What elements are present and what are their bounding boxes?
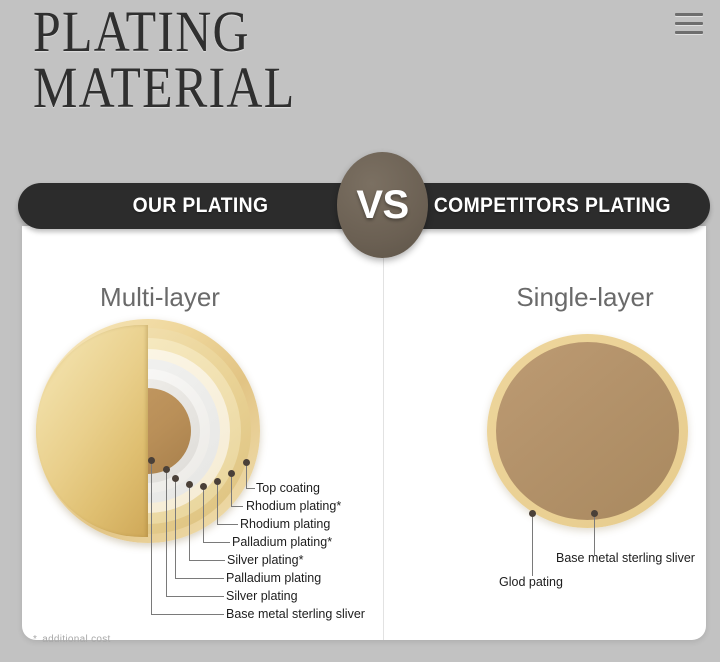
callout-dot-base-metal: [148, 457, 155, 464]
hamburger-menu-icon[interactable]: [675, 13, 703, 37]
callout-leader-palladium-v: [175, 482, 176, 578]
callout-leader-rhodium-v: [217, 485, 218, 524]
hamburger-bar-2: [675, 22, 703, 25]
vs-label: VS: [356, 183, 408, 228]
banner-label-our-plating: OUR PLATING: [33, 183, 369, 229]
callout-leader-base-metal-h: [151, 614, 224, 615]
multi-layer-disc-diagram: [36, 319, 260, 543]
footnote-text: additional cost: [42, 634, 110, 645]
callout-dot-palladium-plating-star: [200, 483, 207, 490]
callout-leader-rhodium-star-v: [231, 477, 232, 506]
callout-leader-rhodium-h: [217, 524, 238, 525]
callout-label-rhodium-plating: Rhodium plating: [240, 517, 330, 531]
hamburger-bar-1: [675, 13, 703, 16]
callout-dot-gold-plating: [529, 510, 536, 517]
callout-leader-silver-star-h: [189, 560, 225, 561]
callout-label-palladium-plating: Palladium plating: [226, 571, 321, 585]
callout-label-top-coating: Top coating: [256, 481, 320, 495]
callout-dot-silver-plating: [163, 466, 170, 473]
callout-leader-top-coating-h: [246, 488, 255, 489]
panel-heading-single-layer: Single-layer: [455, 282, 715, 316]
callout-label-palladium-plating-star: Palladium plating*: [232, 535, 332, 549]
callout-leader-base-metal-v: [151, 464, 152, 614]
callout-leader-gold-plating: [532, 517, 533, 576]
callout-dot-palladium-plating: [172, 475, 179, 482]
callout-label-silver-plating-star: Silver plating*: [227, 553, 303, 567]
callout-dot-rhodium-plating: [214, 478, 221, 485]
callout-label-rhodium-plating-star: Rhodium plating*: [246, 499, 341, 513]
callout-leader-top-coating-v: [246, 466, 247, 488]
callout-leader-palladium-star-h: [203, 542, 230, 543]
single-layer-base-metal-core: [496, 342, 679, 520]
callout-dot-rhodium-plating-star: [228, 470, 235, 477]
callout-dot-competitor-base-metal: [591, 510, 598, 517]
callout-leader-rhodium-star-h: [231, 506, 243, 507]
page-title-line-1: PLATING: [33, 4, 480, 60]
callout-label-competitor-base-metal: Base metal sterling sliver: [556, 551, 695, 565]
multi-layer-cutaway-half: [36, 325, 148, 537]
page-header: PLATING MATERIAL: [0, 0, 720, 140]
callout-leader-palladium-star-v: [203, 490, 204, 542]
panel-heading-multi-layer: Multi-layer: [30, 282, 290, 316]
page-title: PLATING MATERIAL: [33, 4, 480, 116]
page-title-line-2: MATERIAL: [33, 60, 480, 116]
callout-leader-silver-h: [166, 596, 224, 597]
footnote-marker: *: [33, 634, 37, 645]
callout-label-gold-plating: Glod pating: [499, 575, 563, 589]
hamburger-bar-3: [675, 31, 703, 34]
callout-leader-competitor-base-metal: [594, 517, 595, 555]
vs-badge: VS: [337, 152, 428, 258]
panel-divider: [383, 226, 384, 640]
callout-leader-silver-v: [166, 473, 167, 596]
callout-leader-silver-star-v: [189, 488, 190, 560]
callout-label-base-metal: Base metal sterling sliver: [226, 607, 365, 621]
footnote: *additional cost: [33, 634, 111, 645]
callout-dot-top-coating: [243, 459, 250, 466]
callout-dot-silver-plating-star: [186, 481, 193, 488]
callout-leader-palladium-h: [175, 578, 224, 579]
single-layer-disc-diagram: [487, 334, 688, 528]
callout-label-silver-plating: Silver plating: [226, 589, 298, 603]
